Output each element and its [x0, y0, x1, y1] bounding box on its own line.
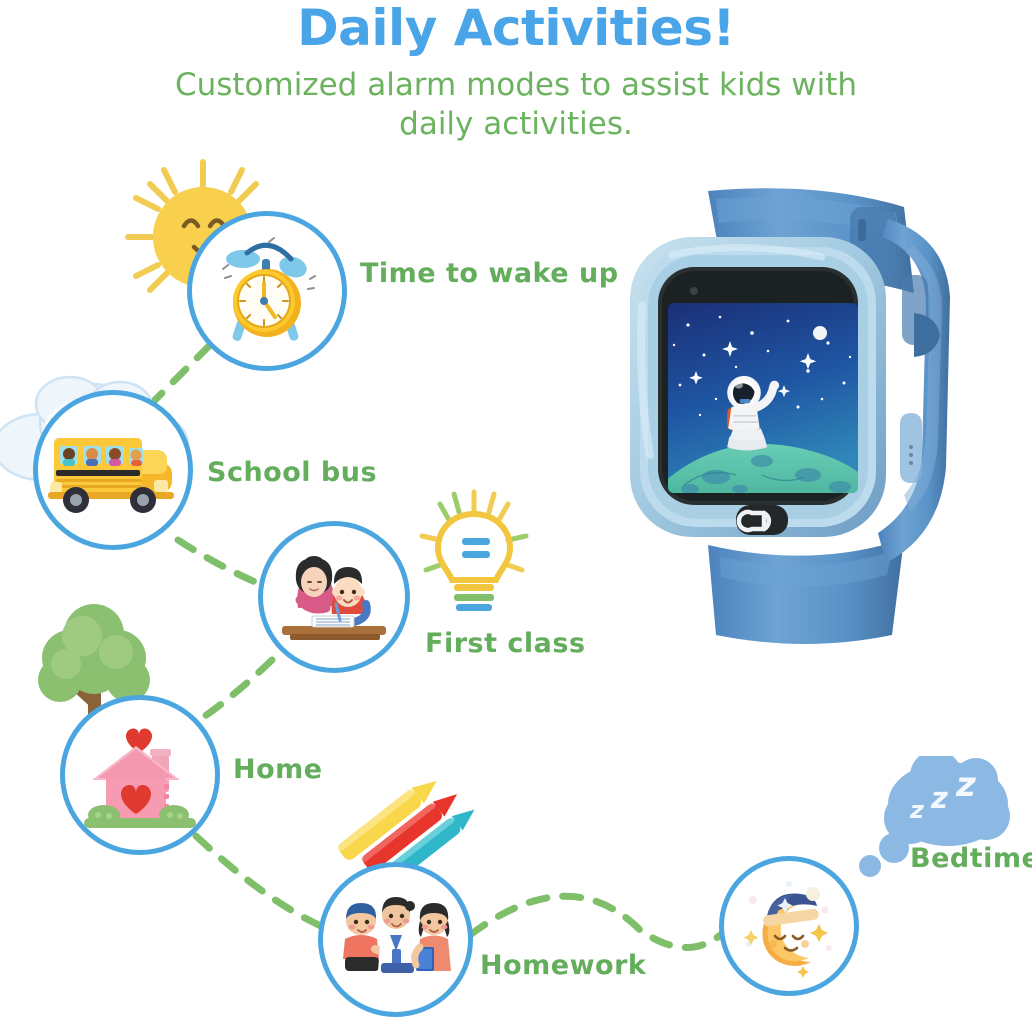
- flow-node-wake[interactable]: [187, 211, 347, 371]
- alarm-clock-icon: [209, 233, 325, 349]
- flow-node-home[interactable]: [60, 695, 220, 855]
- smartwatch-render: [612, 185, 1032, 645]
- flow-label-bus: School bus: [207, 457, 377, 488]
- house-heart-icon: [78, 716, 202, 834]
- svg-text:z: z: [930, 781, 948, 815]
- sleeping-moon-icon: [733, 870, 845, 982]
- flow-label-bedtime: Bedtime: [910, 843, 1032, 874]
- flow-node-bedtime[interactable]: [719, 856, 859, 996]
- flow-label-homework: Homework: [480, 950, 646, 981]
- teacher-student-icon: [276, 542, 392, 652]
- flow-label-wake: Time to wake up: [360, 258, 619, 289]
- home-button: [736, 505, 788, 535]
- three-kids-icon: [335, 891, 457, 989]
- watch-screen-astronaut-on-moon: [652, 303, 880, 494]
- school-bus-icon: [48, 424, 178, 516]
- flow-label-home: Home: [233, 754, 323, 785]
- flow-node-bus[interactable]: [33, 390, 193, 550]
- svg-text:z: z: [909, 796, 925, 824]
- lightbulb-icon: [418, 488, 530, 628]
- kids-smartwatch: [612, 185, 1032, 645]
- svg-text:z: z: [955, 765, 976, 805]
- flow-node-homework[interactable]: [318, 862, 473, 1017]
- flow-node-class[interactable]: [258, 521, 410, 673]
- infographic-canvas: Daily Activities! Customized alarm modes…: [0, 0, 1032, 1024]
- flow-label-class: First class: [425, 628, 586, 659]
